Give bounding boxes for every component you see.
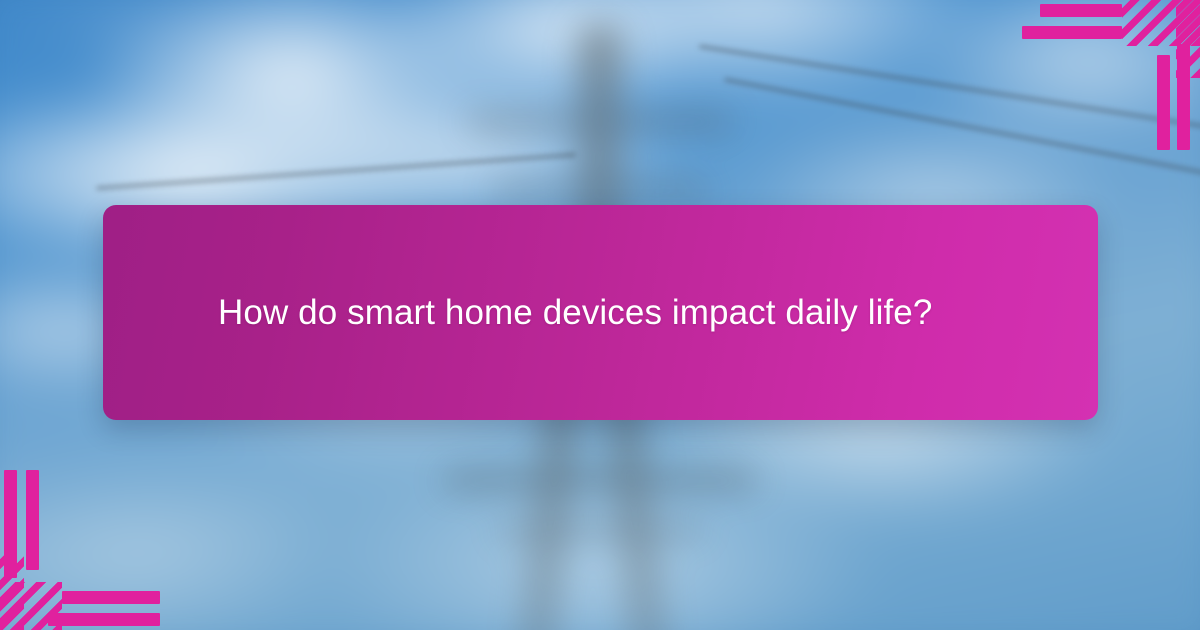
tower-crossarm — [492, 185, 708, 196]
promo-card: How do smart home devices impact daily l… — [0, 0, 1200, 630]
banner-title: How do smart home devices impact daily l… — [103, 291, 988, 335]
tower-crossarm — [468, 115, 732, 128]
accent-bar-vertical — [26, 470, 39, 570]
accent-bar-horizontal — [48, 613, 160, 626]
corner-accent-top-right — [1030, 0, 1200, 160]
accent-bar-vertical — [4, 470, 17, 578]
headline-banner: How do smart home devices impact daily l… — [103, 205, 1098, 420]
tower-crossarm — [498, 525, 702, 535]
accent-bar-horizontal — [1022, 26, 1122, 39]
accent-bar-horizontal — [62, 591, 160, 604]
accent-bar-vertical — [1177, 44, 1190, 150]
corner-accent-bottom-left — [0, 470, 180, 630]
accent-bar-vertical — [1157, 55, 1170, 150]
tower-crossarm — [444, 473, 756, 488]
accent-bar-horizontal — [1040, 4, 1122, 17]
